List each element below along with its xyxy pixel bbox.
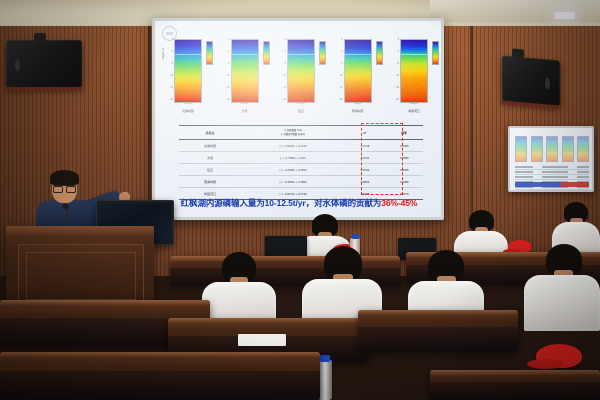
colorbar [263,41,270,65]
heatmap-panel: Depth cm 5 0 -5 -10 -15 -20 TP/mg/L 北湖中部 [163,33,213,121]
panel-x-axis-label: TP/mg/L [284,103,318,106]
y-tick: -10 [396,75,399,77]
secondary-heatmap-row [515,136,589,162]
bench-shadow [358,327,518,352]
panel-title: 后五 [280,109,322,113]
y-tick: 5 [172,39,173,41]
y-tick: -20 [396,99,399,101]
heatmap-panel: 5 0 -5 -10 -15 -20 TP/mg/L 南湖中部 [333,33,383,121]
colorbar [376,41,383,65]
bench-top-edge [0,352,320,357]
cell-site: 大坝 [179,156,241,160]
speaker-cone-icon [15,59,20,71]
ceiling-soffit [430,0,600,22]
y-tick: 0 [228,51,229,53]
bench-top-edge [0,300,210,305]
panel-y-ticks: 5 0 -5 -10 -15 -20 [168,39,173,101]
right-wall-speaker [502,55,560,106]
attendee-shirt [524,275,600,331]
panel-title: 羊昌河口 [393,109,435,113]
header-equation-y: y: 孔隙水P浓度 (mg/L) [241,133,345,136]
bench-top-edge [168,318,368,323]
header-equation: x: 沉积深度 (cm) y: 孔隙水P浓度 (mg/L) [241,129,345,135]
bottle-cap-icon [320,355,330,362]
cell-site: 羊昌河口 [179,192,241,196]
headline-prefix: 红枫湖内源磷输入量为10-12.5t/yr，对水体磷的贡献为 [181,198,382,208]
header-site: 采样点 [179,131,241,135]
y-tick: 5 [285,39,286,41]
speaker-bracket-icon [34,33,46,42]
bench-foreground-right [430,370,600,400]
heatmap-thumb [531,136,543,162]
y-tick: -20 [339,99,342,101]
panel-title: 大坝 [224,109,266,113]
heatmap-image [231,39,259,103]
bench-shadow [0,371,320,400]
y-tick: 5 [398,39,399,41]
bench-top-edge [358,310,518,315]
panel-y-axis-label: Depth cm [162,48,165,59]
panel-x-axis-label: TP/mg/L [341,103,375,106]
speaker-cabinet [502,55,560,106]
colorbar [206,41,213,65]
y-tick: 0 [398,51,399,53]
cell-site: 后五 [179,168,241,172]
lectern-top-edge [6,226,154,235]
y-tick: -5 [227,63,229,65]
headline-highlight: 36%-45% [381,198,417,208]
bench-foreground [0,352,320,400]
attendee-white-shirt-7 [524,244,600,330]
secondary-display[interactable] [508,126,594,192]
heatmap-image [287,39,315,103]
y-tick: -15 [396,87,399,89]
panel-title: 北湖中部 [167,109,209,113]
cell-equation: y = -0.3286x + 0.2884 [241,180,345,184]
conference-room-scene: Depth cm 5 0 -5 -10 -15 -20 TP/mg/L 北湖中部 [0,0,600,400]
y-tick: -10 [170,75,173,77]
lectern-front-panel [18,244,144,308]
cell-site: 北湖中部 [179,144,241,148]
y-tick: -20 [226,99,229,101]
panel-y-ticks: 5 0 -5 -10 -15 -20 [281,39,286,101]
y-tick: -10 [226,75,229,77]
y-tick: 0 [285,51,286,53]
speaker-cone-icon [545,77,550,89]
heatmap-thumb [562,136,574,162]
heatmap-thumb [515,136,527,162]
y-tick: -15 [170,87,173,89]
y-tick: -5 [284,63,286,65]
heatmap-thumb [577,136,589,162]
secondary-slide-surface [510,128,592,190]
bench-row-2c [358,310,518,352]
y-tick: -15 [226,87,229,89]
y-tick: -20 [170,99,173,101]
left-wall-speaker [6,40,82,88]
y-tick: 5 [341,39,342,41]
heatmap-panel: 5 0 -5 -10 -15 -20 TP/mg/L 羊昌河口 [389,33,439,121]
panel-title: 南湖中部 [337,109,379,113]
y-tick: -5 [340,63,342,65]
colorbar [319,41,326,65]
y-tick: -5 [397,63,399,65]
y-tick: 0 [341,51,342,53]
heatmap-image [400,39,428,103]
main-projection-screen[interactable]: Depth cm 5 0 -5 -10 -15 -20 TP/mg/L 北湖中部 [152,18,444,220]
y-tick: -15 [339,87,342,89]
y-tick: -10 [283,75,286,77]
slide-headline: 红枫湖内源磷输入量为10-12.5t/yr，对水体磷的贡献为36%-45% [165,197,433,209]
heatmap-image [174,39,202,103]
panel-y-ticks: 5 0 -5 -10 -15 -20 [225,39,230,101]
panel-x-axis-label: TP/mg/L [397,103,431,106]
eyeglasses-icon [53,185,76,191]
red-cap-3 [536,344,582,368]
speaker-base-trim [4,87,83,91]
slope-column-highlight-box [361,123,403,195]
y-tick: -20 [283,99,286,101]
speaker-bracket-icon [512,48,524,58]
slide-surface: Depth cm 5 0 -5 -10 -15 -20 TP/mg/L 北湖中部 [155,21,441,217]
panel-x-axis-label: TP/mg/L [171,103,205,106]
notebook-paper-2 [238,334,286,346]
cell-equation: y = -0.7586x + 0.404 [241,156,345,160]
bench-top-edge [430,370,600,375]
colorbar [432,41,439,65]
cell-equation: y = -0.6079x + 0.3749 [241,192,345,196]
bottle-cap-icon [352,234,359,239]
heatmap-image [344,39,372,103]
cell-site: 南湖中部 [179,180,241,184]
panel-y-ticks: 5 0 -5 -10 -15 -20 [338,39,343,101]
presenter-hair [50,170,79,185]
y-tick: 0 [172,51,173,53]
heatmap-panel: 5 0 -5 -10 -15 -20 TP/mg/L 大坝 [220,33,270,121]
panel-x-axis-label: TP/mg/L [228,103,262,106]
y-tick: -15 [283,87,286,89]
heatmap-panel: 5 0 -5 -10 -15 -20 TP/mg/L 后五 [276,33,326,121]
secondary-headline [515,182,589,187]
cell-equation: y = -0.2095x + 0.3553 [241,168,345,172]
y-tick: -10 [339,75,342,77]
panel-y-ticks: 5 0 -5 -10 -15 -20 [394,39,399,101]
y-tick: 5 [228,39,229,41]
bench-shadow [430,382,600,400]
cell-equation: y = -0.5335x + 0.3279 [241,144,345,148]
heatmap-panel-row: Depth cm 5 0 -5 -10 -15 -20 TP/mg/L 北湖中部 [163,33,439,121]
water-bottle-2 [318,360,332,400]
ceiling-light-icon [555,12,575,19]
y-tick: -5 [171,63,173,65]
attendee-white-shirt-4 [202,252,276,324]
heatmap-thumb [546,136,558,162]
